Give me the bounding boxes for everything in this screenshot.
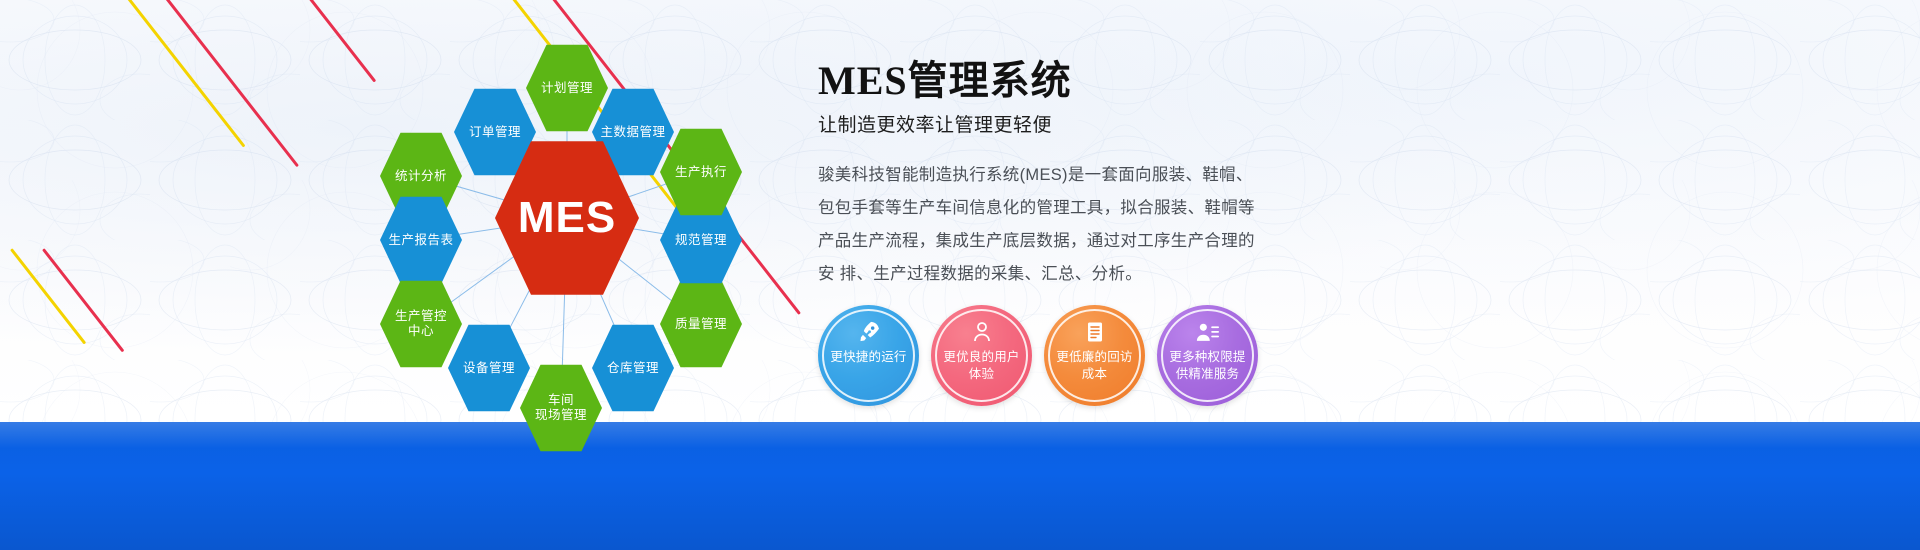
rocket-icon: [856, 319, 882, 345]
background-bottom-band: [0, 422, 1920, 550]
hex-node-label: 生产报告表: [384, 233, 457, 248]
hex-node-label: 统计分析: [391, 169, 451, 184]
permissions-icon: [1195, 319, 1221, 345]
badge-better-user-experience[interactable]: 更优良的用户体验: [931, 305, 1032, 406]
hex-center-label: MES: [514, 192, 620, 244]
mes-hex-diagram: 计划管理 订单管理 统计分析 生产报告表 生产管控 中心 设备管理 车间 现场管…: [330, 10, 800, 430]
document-icon: [1082, 319, 1108, 345]
mes-banner: 计划管理 订单管理 统计分析 生产报告表 生产管控 中心 设备管理 车间 现场管…: [0, 0, 1920, 550]
user-icon: [969, 319, 995, 345]
hex-node-label: 生产执行: [671, 165, 731, 180]
page-title: MES管理系统: [818, 58, 1288, 104]
hex-node-label: 主数据管理: [596, 125, 669, 140]
hex-node-label: 生产管控 中心: [391, 309, 451, 339]
badge-label: 更快捷的运行: [822, 349, 914, 366]
badge-faster-operation[interactable]: 更快捷的运行: [818, 305, 919, 406]
badge-label: 更低廉的回访成本: [1044, 349, 1145, 382]
hex-node-label: 车间 现场管理: [531, 393, 591, 423]
description-paragraph: 骏美科技智能制造执行系统(MES)是一套面向服装、鞋帽、包包手套等生产车间信息化…: [818, 159, 1268, 291]
hex-node-label: 质量管理: [671, 317, 731, 332]
badge-label: 更优良的用户体验: [931, 349, 1032, 382]
badge-multiple-permissions[interactable]: 更多种权限提供精准服务: [1157, 305, 1258, 406]
hex-node-label: 设备管理: [459, 361, 519, 376]
badge-lower-revisit-cost[interactable]: 更低廉的回访成本: [1044, 305, 1145, 406]
hex-node-label: 规范管理: [671, 233, 731, 248]
hex-node-label: 订单管理: [465, 125, 525, 140]
content-column: MES管理系统 让制造更效率让管理更轻便 骏美科技智能制造执行系统(MES)是一…: [818, 58, 1288, 291]
hex-node-label: 仓库管理: [603, 361, 663, 376]
badge-label: 更多种权限提供精准服务: [1157, 349, 1258, 382]
page-subtitle: 让制造更效率让管理更轻便: [818, 110, 1288, 137]
hex-node-label: 计划管理: [537, 81, 597, 96]
feature-badges: 更快捷的运行 更优良的用户体验: [818, 305, 1258, 406]
